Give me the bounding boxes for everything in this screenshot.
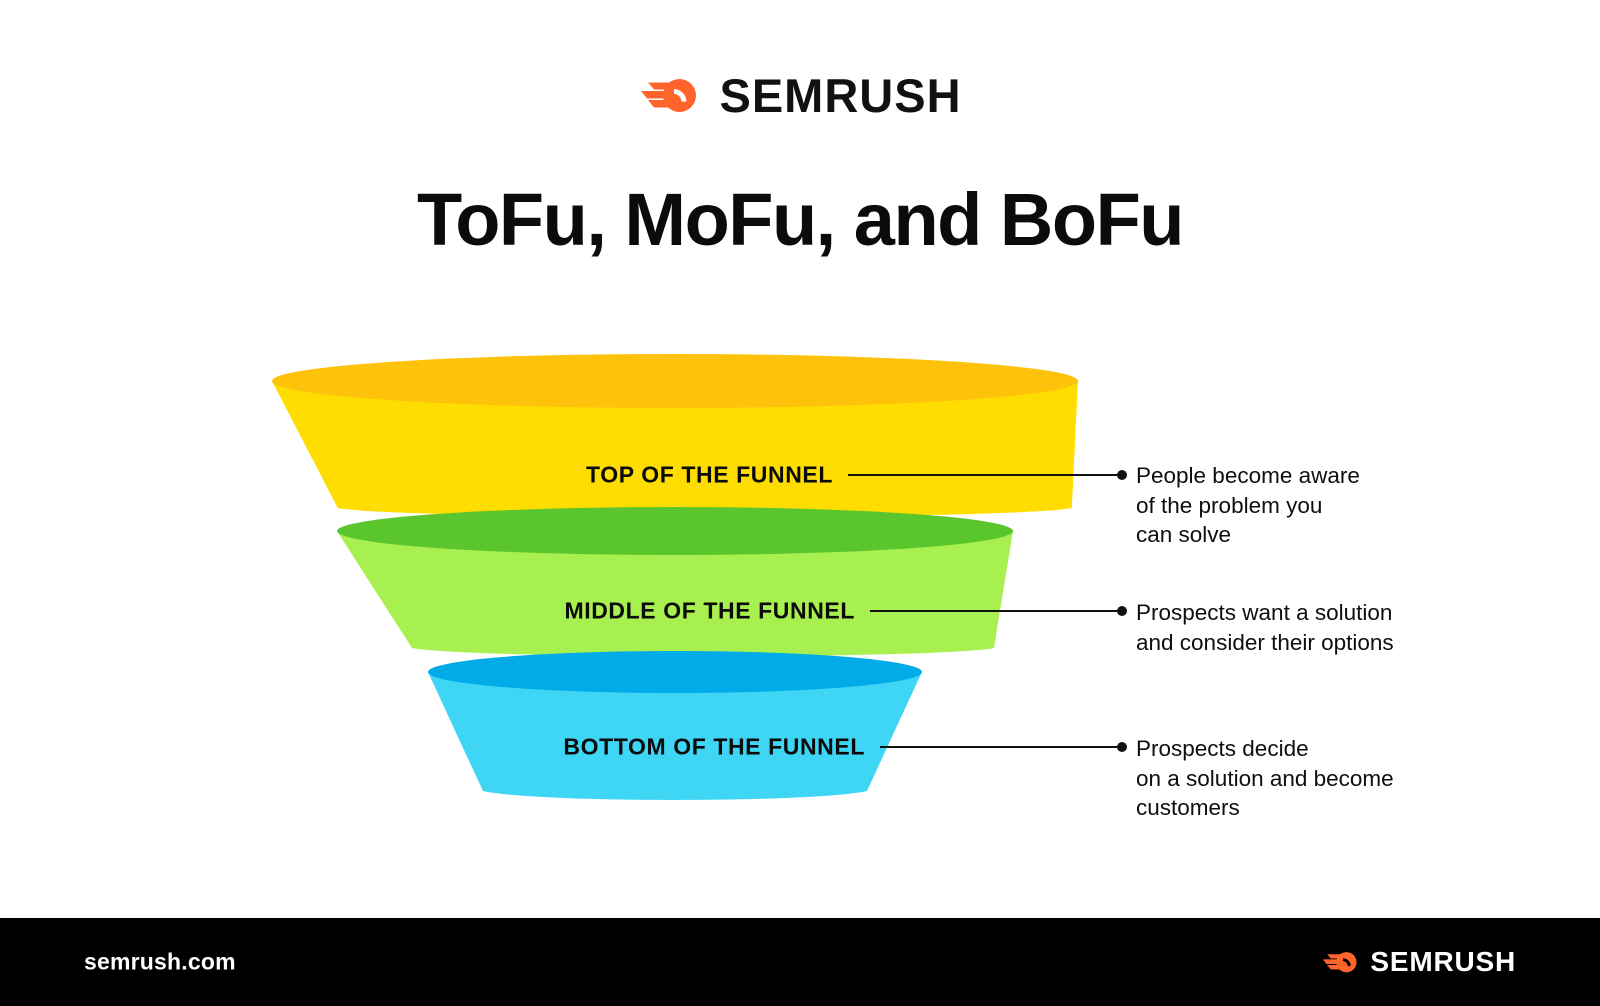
- funnel-stage-top: [272, 354, 1078, 517]
- infographic-page: SEMRUSH ToFu, MoFu, and BoFu: [0, 0, 1600, 1006]
- semrush-comet-icon: [1321, 949, 1359, 976]
- stage-label-bottom: BOTTOM OF THE FUNNEL: [563, 734, 865, 761]
- footer-bar: semrush.com SEMRUSH: [0, 918, 1600, 1006]
- funnel-stage-middle: [337, 507, 1013, 656]
- footer-url[interactable]: semrush.com: [84, 949, 236, 976]
- annotation-bottom: Prospects decide on a solution and becom…: [1136, 734, 1394, 823]
- funnel-stage-bottom: [428, 651, 922, 800]
- footer-logo: SEMRUSH: [1321, 948, 1516, 976]
- annotation-middle: Prospects want a solution and consider t…: [1136, 598, 1394, 657]
- footer-logo-text: SEMRUSH: [1370, 948, 1516, 976]
- leader-dots: [1117, 470, 1127, 752]
- stage-label-top: TOP OF THE FUNNEL: [586, 462, 833, 489]
- funnel-diagram: TOP OF THE FUNNEL MIDDLE OF THE FUNNEL B…: [0, 0, 1600, 906]
- annotation-top: People become aware of the problem you c…: [1136, 461, 1360, 550]
- stage-label-middle: MIDDLE OF THE FUNNEL: [564, 598, 855, 625]
